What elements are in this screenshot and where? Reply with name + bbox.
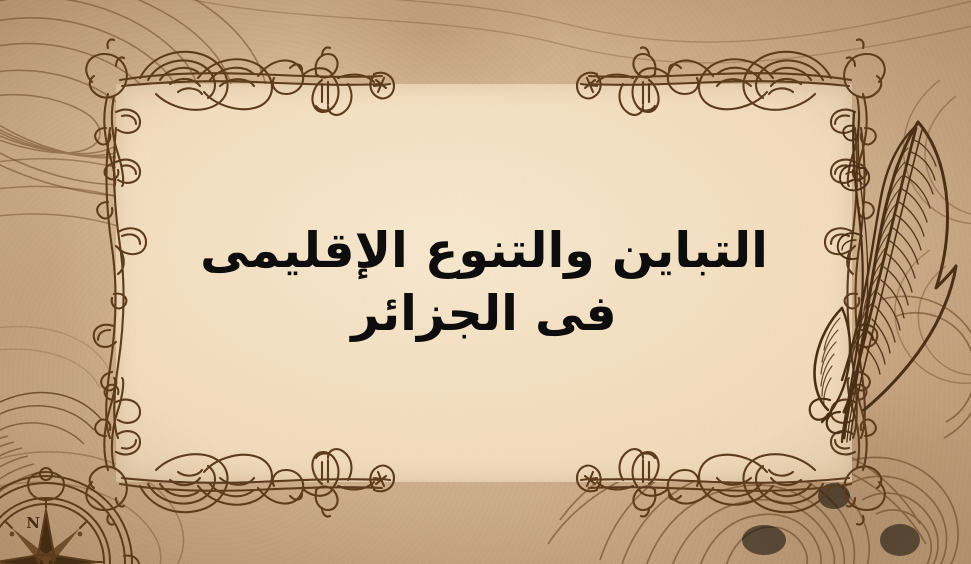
presentation-slide: N bbox=[0, 0, 971, 564]
slide-title: التباين والتنوع الإقليمى فى الجزائر bbox=[189, 220, 779, 345]
title-block: التباين والتنوع الإقليمى فى الجزائر bbox=[116, 84, 852, 482]
